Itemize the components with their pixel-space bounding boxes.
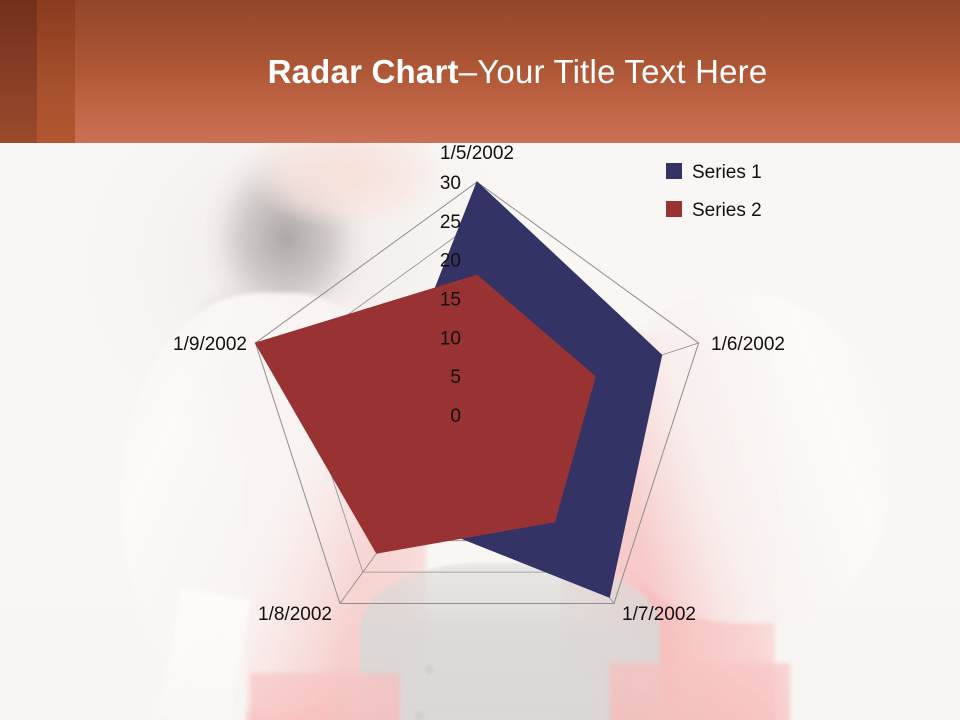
radial-tick-label-0: 0 <box>450 406 461 427</box>
category-label-1-7-2002: 1/7/2002 <box>622 604 696 625</box>
radial-tick-label-30: 30 <box>440 173 461 194</box>
accent-band-dark <box>0 0 37 143</box>
category-label-1-8-2002: 1/8/2002 <box>258 604 332 625</box>
radar-chart-svg: 051015202530 1/5/20021/6/20021/7/20021/8… <box>0 143 960 720</box>
radial-tick-label-20: 20 <box>440 251 461 272</box>
radial-tick-label-25: 25 <box>440 212 461 233</box>
accent-band-medium <box>37 0 75 143</box>
category-label-1-5-2002: 1/5/2002 <box>440 143 514 164</box>
page-title-separator: – <box>459 53 478 91</box>
legend-swatch-series-1[interactable] <box>666 163 682 179</box>
chart-series-shapes <box>255 182 661 597</box>
radial-tick-label-15: 15 <box>440 290 461 311</box>
legend-label-series-1[interactable]: Series 1 <box>692 162 762 183</box>
radar-chart: 051015202530 1/5/20021/6/20021/7/20021/8… <box>0 143 960 720</box>
page-title-bold: Radar Chart <box>268 53 459 91</box>
legend-label-series-2[interactable]: Series 2 <box>692 200 762 221</box>
category-label-1-9-2002: 1/9/2002 <box>173 334 247 355</box>
page-title: Radar Chart – Your Title Text Here <box>75 0 960 143</box>
chart-legend: Series 1Series 2 <box>666 162 762 221</box>
slide: Radar Chart – Your Title Text Here 05101… <box>0 0 960 720</box>
title-bar: Radar Chart – Your Title Text Here <box>0 0 960 143</box>
radial-tick-label-10: 10 <box>440 328 461 349</box>
page-title-light: Your Title Text Here <box>477 53 767 91</box>
category-label-1-6-2002: 1/6/2002 <box>711 334 785 355</box>
legend-swatch-series-2[interactable] <box>666 201 682 217</box>
radial-tick-label-5: 5 <box>450 367 461 388</box>
